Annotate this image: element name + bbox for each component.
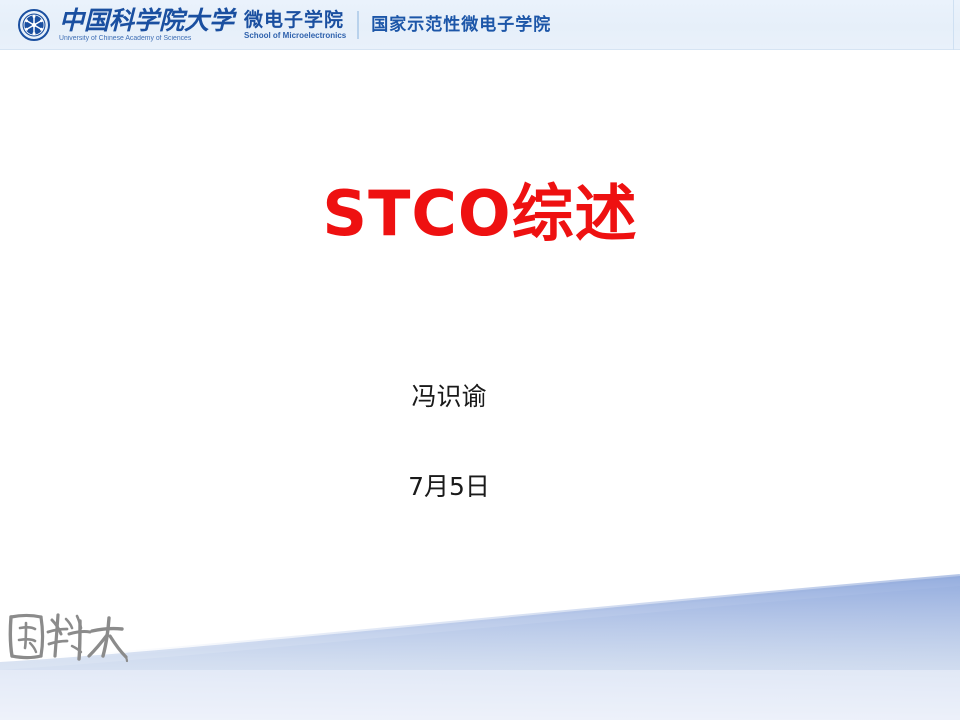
header-divider [357,11,359,39]
presenter-name: 冯识谕 [0,380,960,414]
school-name-en: School of Microelectronics [244,31,346,41]
school-wordmark: 微电子学院 School of Microelectronics [244,10,346,41]
university-name-en: University of Chinese Academy of Science… [59,34,231,43]
slide-header-band: 中国科学院大学 University of Chinese Academy of… [0,0,960,50]
presentation-date: 7月5日 [0,470,960,504]
national-program-label: 国家示范性微电子学院 [371,15,551,35]
cas-university-seal-icon [18,9,50,41]
subtitle-spacer [0,414,960,470]
header-brand-group: 中国科学院大学 University of Chinese Academy of… [0,0,551,50]
presentation-slide: 中国科学院大学 University of Chinese Academy of… [0,0,960,720]
school-name-cn: 微电子学院 [244,10,346,31]
university-wordmark: 中国科学院大学 University of Chinese Academy of… [59,8,234,43]
university-name-cn: 中国科学院大学 [59,8,234,34]
slide-title: STCO综述 [0,178,960,250]
footer-wave-decoration [0,550,960,720]
header-right-edge-line [953,0,954,50]
ucas-calligraphy-watermark [6,606,130,668]
slide-subtitle-group: 冯识谕 7月5日 [0,380,960,504]
